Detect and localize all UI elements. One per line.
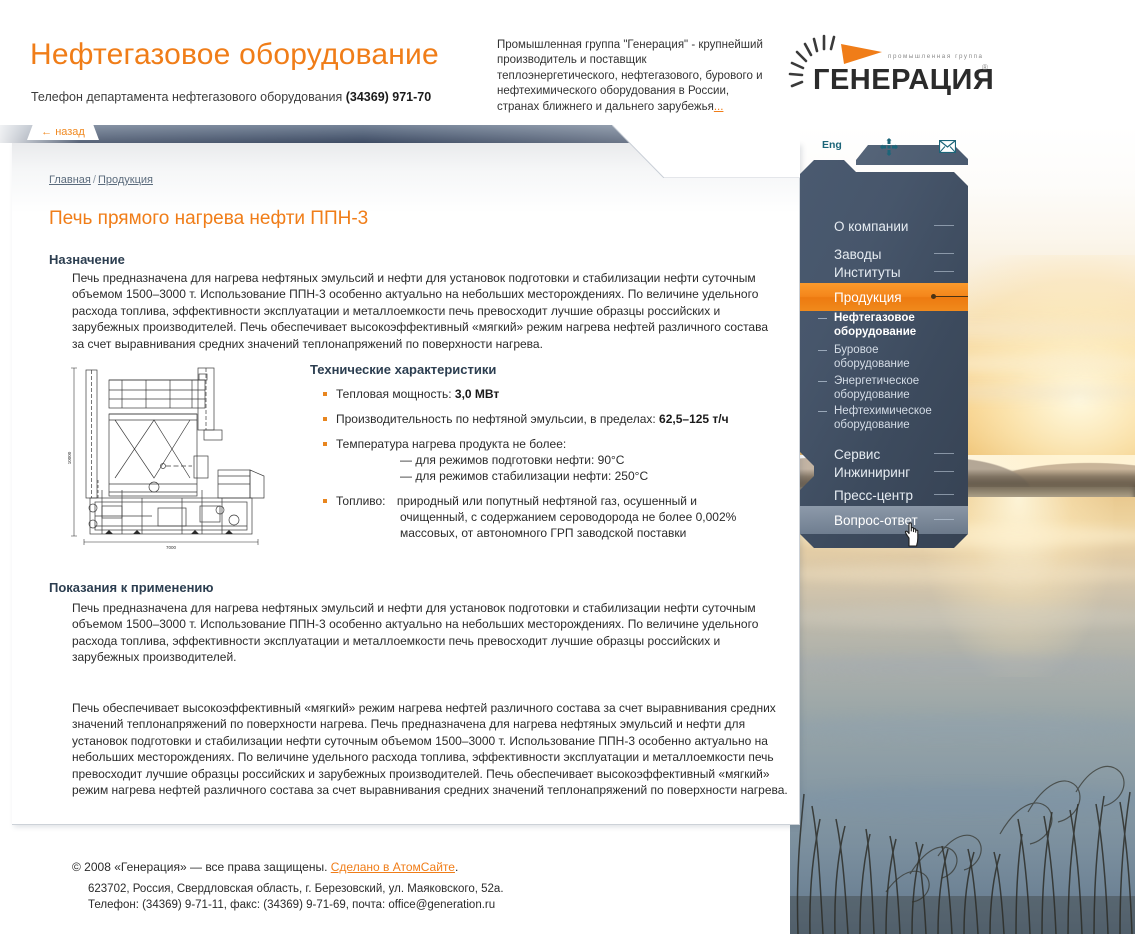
- nav-dash: [934, 225, 954, 226]
- company-logo[interactable]: ГЕНЕРАЦИЯ промышленная группа ®: [786, 30, 1001, 100]
- read-more-link[interactable]: ...: [714, 101, 724, 113]
- tech-specs-list: Тепловая мощность: 3,0 МВт Производитель…: [318, 386, 788, 550]
- nav-dash: [934, 253, 954, 254]
- envelope-icon[interactable]: [939, 140, 956, 153]
- contacts-line: Телефон: (34369) 9-71-11, факс: (34369) …: [88, 898, 504, 914]
- nav-dash: [934, 494, 954, 495]
- nav-subitem-drilling-equipment[interactable]: Буровое оборудование: [800, 344, 950, 371]
- nav-subitem-oil-gas-equipment[interactable]: Нефтегазовое оборудование: [800, 312, 950, 339]
- page-header: Нефтегазовое оборудование Телефон департ…: [0, 0, 1135, 125]
- spec-capacity-label: Производительность по нефтяной эмульсии,…: [336, 412, 659, 426]
- product-title: Печь прямого нагрева нефти ППН-3: [49, 208, 368, 230]
- department-phone: Телефон департамента нефтегазового обору…: [31, 90, 431, 104]
- water-streak: [790, 605, 1135, 629]
- company-address-block: 623702, Россия, Свердловская область, г.…: [88, 882, 504, 913]
- phone-number: (34369) 971-70: [346, 90, 431, 104]
- address-line: 623702, Россия, Свердловская область, г.…: [88, 882, 504, 898]
- company-description: Промышленная группа "Генерация" - крупне…: [497, 38, 765, 115]
- nav-label: Инжиниринг: [834, 465, 910, 480]
- nav-item-faq[interactable]: Вопрос-ответ: [800, 506, 968, 534]
- utility-icons-bar: Eng: [800, 136, 968, 158]
- spec-fuel-label: Топливо:: [336, 494, 386, 508]
- nav-item-institutes[interactable]: Институты: [800, 258, 968, 286]
- reed-silhouettes: [790, 644, 1135, 934]
- breadcrumb: Главная/Продукция: [49, 174, 153, 186]
- water-streak: [790, 565, 1135, 583]
- spec-power: Тепловая мощность: 3,0 МВт: [318, 386, 788, 402]
- nav-item-about[interactable]: О компании: [800, 212, 968, 240]
- spec-temperature-label: Температура нагрева продукта не более:: [336, 437, 566, 451]
- nav-subdash: [818, 318, 827, 319]
- page-title-main: Нефтегазовое оборудование: [30, 38, 439, 72]
- nav-label: О компании: [834, 219, 908, 234]
- sitemap-icon[interactable]: [880, 138, 898, 156]
- copyright-text: © 2008 «Генерация» — все права защищены.: [72, 860, 331, 874]
- logo-tagline: промышленная группа: [888, 53, 984, 60]
- nav-dash: [934, 471, 954, 472]
- spec-fuel-value-rest: очищенный, с содержанием сероводорода не…: [336, 509, 788, 541]
- nav-label: Пресс-центр: [834, 488, 913, 503]
- back-button[interactable]: ← назад: [27, 124, 99, 140]
- nav-sub-label: Буровое оборудование: [834, 344, 950, 371]
- nav-dash: [934, 271, 954, 272]
- language-switch-eng[interactable]: Eng: [822, 139, 842, 151]
- copyright-period: .: [455, 860, 458, 874]
- indications-heading: Показания к применению: [49, 580, 214, 595]
- svg-text:7000: 7000: [166, 545, 177, 550]
- nav-sub-label: Нефтегазовое оборудование: [834, 312, 950, 339]
- nav-subdash: [818, 381, 827, 382]
- phone-label: Телефон департамента нефтегазового обору…: [31, 90, 346, 104]
- spec-temperature: Температура нагрева продукта не более: —…: [318, 436, 788, 484]
- nav-dash: [934, 519, 954, 520]
- nav-subdash: [818, 411, 827, 412]
- nav-label: Продукция: [834, 290, 902, 305]
- spec-power-value: 3,0 МВт: [455, 387, 499, 401]
- mouse-cursor-pointer: [902, 521, 924, 547]
- logo-wordmark: ГЕНЕРАЦИЯ: [813, 64, 994, 97]
- made-by-link[interactable]: Сделано в АтомСайте: [331, 860, 455, 874]
- nav-sub-label: Нефтехимическое оборудование: [834, 405, 958, 432]
- nav-item-press-center[interactable]: Пресс-центр: [800, 481, 968, 509]
- purpose-heading: Назначение: [49, 252, 125, 267]
- copyright-line: © 2008 «Генерация» — все права защищены.…: [72, 860, 458, 874]
- page-footer: © 2008 «Генерация» — все права защищены.…: [0, 850, 800, 934]
- spec-capacity-value: 62,5–125 т/ч: [659, 412, 729, 426]
- spec-fuel: Топливо: природный или попутный нефтяной…: [318, 493, 788, 541]
- nav-item-products[interactable]: Продукция: [800, 283, 968, 311]
- nav-subdash: [818, 350, 827, 351]
- nav-subitem-petrochemical-equipment[interactable]: Нефтехимическое оборудование: [800, 405, 958, 432]
- furnace-technical-drawing: 10000 7000: [62, 358, 308, 550]
- tech-specs-heading: Технические характеристики: [310, 362, 496, 377]
- registered-mark: ®: [982, 63, 988, 72]
- spec-power-label: Тепловая мощность:: [336, 387, 455, 401]
- nav-label: Институты: [834, 265, 901, 280]
- svg-text:10000: 10000: [67, 451, 72, 464]
- nav-sub-label: Энергетическое оборудование: [834, 375, 955, 402]
- nav-subitem-power-equipment[interactable]: Энергетическое оборудование: [800, 375, 955, 402]
- nav-dash: [934, 296, 968, 297]
- indications-paragraph-1: Печь предназначена для нагрева нефтяных …: [72, 600, 772, 666]
- breadcrumb-separator: /: [93, 174, 96, 186]
- spec-temp-preparation: — для режимов подготовки нефти: 90°С: [336, 452, 788, 468]
- purpose-paragraph: Печь предназначена для нагрева нефтяных …: [72, 270, 772, 352]
- spec-fuel-value-first: природный или попутный нефтяной газ, осу…: [389, 494, 697, 508]
- indications-paragraph-2: Печь обеспечивает высокоэффективный «мяг…: [72, 700, 788, 798]
- spec-temp-stabilization: — для режимов стабилизации нефти: 250°С: [336, 468, 788, 484]
- breadcrumb-current[interactable]: Продукция: [98, 174, 153, 186]
- breadcrumb-home[interactable]: Главная: [49, 174, 91, 186]
- spec-capacity: Производительность по нефтяной эмульсии,…: [318, 411, 788, 427]
- nav-dash: [934, 453, 954, 454]
